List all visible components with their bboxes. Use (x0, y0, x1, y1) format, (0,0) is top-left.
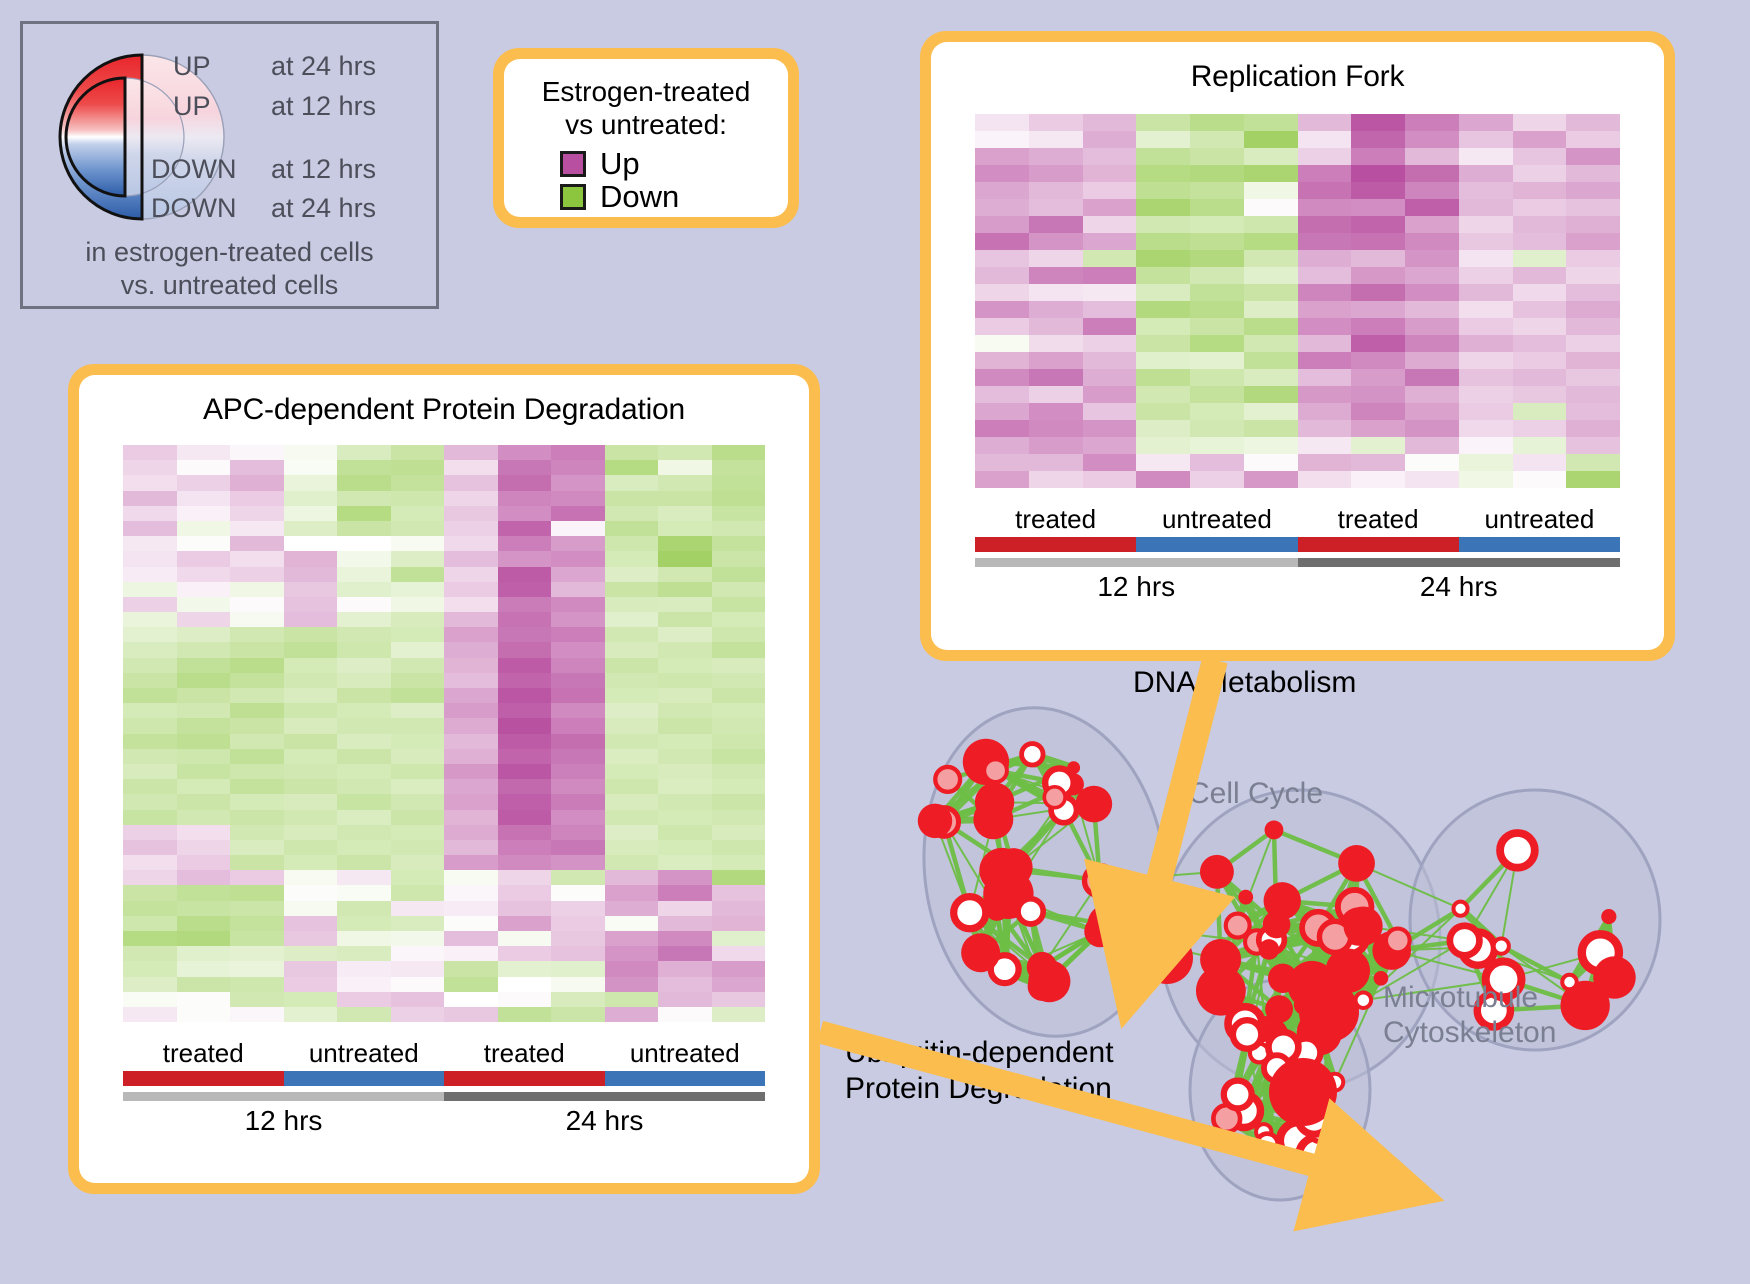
time-label-24: 24 hrs (444, 1105, 765, 1137)
heatmap-cell (177, 536, 231, 551)
time-bar-12 (123, 1092, 444, 1101)
heatmap-cell (1244, 267, 1298, 284)
heatmap-cell (1566, 454, 1620, 471)
heatmap-cell (605, 688, 659, 703)
group-labels-replication: treated untreated treated untreated (975, 504, 1620, 535)
cluster-label-ubiquitin-degradation: Ubiquitin-dependent Protein Degradation (845, 1035, 1114, 1107)
heatmap-cell (444, 1007, 498, 1022)
heatmap-cell (391, 1007, 445, 1022)
heatmap-cell (284, 916, 338, 931)
heatmap-cell (1405, 335, 1459, 352)
heatmap-cell (1513, 199, 1567, 216)
heatmap-cell (1459, 233, 1513, 250)
heatmap-cell (391, 885, 445, 900)
heatmap-cell (712, 612, 766, 627)
heatmap-cell (1405, 420, 1459, 437)
heatmap-cell (1298, 420, 1352, 437)
heatmap-cell (1351, 131, 1405, 148)
heatmap-cell (1029, 199, 1083, 216)
heatmap-cell (391, 764, 445, 779)
heatmap-cell (230, 855, 284, 870)
heatmap-cell (1190, 233, 1244, 250)
heatmap-cell (177, 825, 231, 840)
heatmap-cell (1513, 216, 1567, 233)
heatmap-cell (1244, 403, 1298, 420)
heatmap-cell (1029, 233, 1083, 250)
heatmap-cell (337, 642, 391, 657)
heatmap-cell (605, 885, 659, 900)
heatmap-cell (123, 885, 177, 900)
heatmap-cell (284, 688, 338, 703)
heatmap-cell (1136, 471, 1190, 488)
heatmap-cell (498, 521, 552, 536)
heatmap-cell (123, 794, 177, 809)
network-node (1087, 904, 1129, 946)
heatmap-cell (337, 491, 391, 506)
heatmap-cell (658, 916, 712, 931)
heatmap-replication-fork (975, 114, 1620, 488)
heatmap-cell (1298, 250, 1352, 267)
key-footer-line1: in estrogen-treated cells (23, 236, 436, 269)
heatmap-cell (1459, 352, 1513, 369)
heatmap-cell (284, 946, 338, 961)
bar-treated-24 (444, 1071, 605, 1086)
heatmap-cell (177, 612, 231, 627)
heatmap-cell (975, 284, 1029, 301)
time-labels-replication: 12 hrs 24 hrs (975, 571, 1620, 603)
heatmap-cell (1513, 369, 1567, 386)
heatmap-cell (230, 475, 284, 490)
heatmap-cell (123, 810, 177, 825)
heatmap-cell (123, 961, 177, 976)
heatmap-cell (391, 870, 445, 885)
heatmap-cell (177, 992, 231, 1007)
heatmap-cell (551, 460, 605, 475)
heatmap-cell (658, 840, 712, 855)
heatmap-cell (498, 870, 552, 885)
heatmap-cell (1244, 131, 1298, 148)
heatmap-cell (1351, 284, 1405, 301)
heatmap-cell (605, 627, 659, 642)
heatmap-cell (1566, 284, 1620, 301)
heatmap-cell (284, 779, 338, 794)
heatmap-cell (498, 810, 552, 825)
bar-treated-12 (123, 1071, 284, 1086)
heatmap-cell (391, 445, 445, 460)
heatmap-cell (1083, 454, 1137, 471)
heatmap-cell (975, 437, 1029, 454)
heatmap-cell (284, 885, 338, 900)
heatmap-cell (712, 445, 766, 460)
heatmap-cell (658, 521, 712, 536)
heatmap-cell (1513, 318, 1567, 335)
heatmap-cell (177, 840, 231, 855)
heatmap-cell (177, 718, 231, 733)
heatmap-cell (1029, 267, 1083, 284)
heatmap-cell (177, 673, 231, 688)
heatmap-cell (1190, 199, 1244, 216)
network-node (1076, 786, 1113, 823)
heatmap-cell (975, 267, 1029, 284)
heatmap-cell (1405, 182, 1459, 199)
heatmap-cell (1136, 233, 1190, 250)
heatmap-cell (177, 658, 231, 673)
heatmap-cell (123, 673, 177, 688)
heatmap-cell (444, 506, 498, 521)
annotation-strip-apc: treated untreated treated untreated (123, 1038, 765, 1137)
heatmap-cell (444, 475, 498, 490)
heatmap-cell (551, 627, 605, 642)
heatmap-cell (230, 901, 284, 916)
heatmap-cell (1083, 335, 1137, 352)
heatmap-cell (658, 460, 712, 475)
heatmap-cell (444, 992, 498, 1007)
group-label-2: treated (444, 1038, 605, 1069)
time-bar-24 (444, 1092, 765, 1101)
network-node-pale (1386, 929, 1410, 953)
heatmap-cell (498, 794, 552, 809)
heatmap-cell (712, 506, 766, 521)
heatmap-cell (975, 165, 1029, 182)
heatmap-cell (391, 916, 445, 931)
heatmap-cell (123, 992, 177, 1007)
heatmap-cell (284, 794, 338, 809)
heatmap-cell (284, 460, 338, 475)
heatmap-cell (1029, 165, 1083, 182)
heatmap-cell (123, 931, 177, 946)
heatmap-cell (177, 688, 231, 703)
heatmap-cell (605, 506, 659, 521)
heatmap-cell (337, 688, 391, 703)
heatmap-cell (1298, 318, 1352, 335)
heatmap-cell (1029, 114, 1083, 131)
heatmap-cell (658, 475, 712, 490)
network-node (994, 848, 1032, 886)
ubiq-line2: Protein Degradation (845, 1071, 1114, 1107)
up-color-swatch (560, 151, 586, 177)
heatmap-cell (337, 460, 391, 475)
network-node (1067, 761, 1080, 774)
heatmap-cell (1513, 165, 1567, 182)
heatmap-cell (1083, 420, 1137, 437)
heatmap-cell (551, 506, 605, 521)
heatmap-cell (284, 658, 338, 673)
heatmap-cell (658, 612, 712, 627)
time-labels-apc: 12 hrs 24 hrs (123, 1105, 765, 1137)
heatmap-cell (1244, 250, 1298, 267)
heatmap-cell (498, 916, 552, 931)
heatmap-cell (1136, 267, 1190, 284)
heatmap-cell (1029, 182, 1083, 199)
heatmap-cell (498, 627, 552, 642)
heatmap-cell (551, 642, 605, 657)
heatmap-cell (1136, 454, 1190, 471)
heatmap-cell (605, 901, 659, 916)
heatmap-cell (551, 658, 605, 673)
heatmap-cell (444, 961, 498, 976)
heatmap-cell (1351, 437, 1405, 454)
heatmap-cell (605, 870, 659, 885)
heatmap-cell (1351, 233, 1405, 250)
heatmap-cell (1351, 318, 1405, 335)
heatmap-cell (284, 734, 338, 749)
heatmap-cell (658, 794, 712, 809)
heatmap-cell (551, 612, 605, 627)
heatmap-cell (337, 961, 391, 976)
down-color-swatch (560, 184, 586, 210)
key-row-2-label: DOWN (151, 154, 236, 185)
heatmap-cell (1029, 301, 1083, 318)
heatmap-cell (284, 931, 338, 946)
heatmap-cell (337, 734, 391, 749)
heatmap-cell (712, 688, 766, 703)
heatmap-cell (551, 718, 605, 733)
heatmap-cell (177, 460, 231, 475)
heatmap-cell (1566, 267, 1620, 284)
heatmap-cell (1298, 182, 1352, 199)
network-node-ring (1022, 744, 1043, 765)
heatmap-cell (975, 454, 1029, 471)
heatmap-cell (230, 840, 284, 855)
heatmap-cell (551, 901, 605, 916)
key-row-0-time: at 24 hrs (271, 51, 376, 82)
heatmap-cell (1029, 437, 1083, 454)
heatmap-cell (230, 703, 284, 718)
heatmap-cell (391, 977, 445, 992)
network-node-ring (1500, 833, 1535, 868)
heatmap-cell (658, 810, 712, 825)
heatmap-cell (712, 567, 766, 582)
heatmap-cell (284, 901, 338, 916)
heatmap-cell (444, 567, 498, 582)
group-color-bars-apc (123, 1071, 765, 1086)
heatmap-cell (177, 491, 231, 506)
heatmap-cell (551, 916, 605, 931)
heatmap-cell (230, 597, 284, 612)
heatmap-cell (1029, 131, 1083, 148)
heatmap-cell (1351, 199, 1405, 216)
network-node-pale (1085, 866, 1115, 896)
heatmap-cell (177, 445, 231, 460)
heatmap-cell (444, 916, 498, 931)
heatmap-cell (177, 567, 231, 582)
heatmap-cell (284, 673, 338, 688)
heatmap-cell (658, 734, 712, 749)
heatmap-cell (337, 475, 391, 490)
heatmap-cell (444, 536, 498, 551)
key-footer: in estrogen-treated cells vs. untreated … (23, 236, 436, 302)
heatmap-cell (1190, 437, 1244, 454)
heatmap-cell (712, 916, 766, 931)
heatmap-cell (123, 688, 177, 703)
heatmap-cell (712, 885, 766, 900)
heatmap-cell (391, 718, 445, 733)
heatmap-cell (230, 551, 284, 566)
heatmap-cell (1029, 420, 1083, 437)
bar-untreated-12 (284, 1071, 445, 1086)
heatmap-cell (444, 749, 498, 764)
heatmap-cell (1244, 114, 1298, 131)
heatmap-cell (605, 992, 659, 1007)
heatmap-cell (658, 642, 712, 657)
heatmap-cell (230, 718, 284, 733)
heatmap-cell (177, 582, 231, 597)
heatmap-cell (1298, 267, 1352, 284)
heatmap-cell (1405, 318, 1459, 335)
heatmap-cell (1459, 182, 1513, 199)
heatmap-cell (1298, 403, 1352, 420)
heatmap-cell (605, 612, 659, 627)
heatmap-cell (1298, 454, 1352, 471)
heatmap-cell (123, 870, 177, 885)
heatmap-cell (1298, 199, 1352, 216)
heatmap-cell (551, 551, 605, 566)
network-node-ring (1562, 975, 1577, 990)
heatmap-cell (391, 703, 445, 718)
heatmap-cell (1405, 148, 1459, 165)
heatmap-cell (712, 931, 766, 946)
heatmap-cell (1351, 335, 1405, 352)
heatmap-cell (123, 825, 177, 840)
time-bar-24 (1298, 558, 1621, 567)
time-color-bars-apc (123, 1092, 765, 1101)
heatmap-cell (391, 961, 445, 976)
heatmap-cell (1405, 216, 1459, 233)
heatmap-cell (1136, 284, 1190, 301)
heatmap-cell (498, 885, 552, 900)
heatmap-cell (1566, 165, 1620, 182)
heatmap-cell (444, 764, 498, 779)
heatmap-cell (1136, 369, 1190, 386)
heatmap-cell (444, 703, 498, 718)
heatmap-cell (1513, 148, 1567, 165)
heatmap-cell (551, 855, 605, 870)
heatmap-cell (712, 825, 766, 840)
heatmap-cell (712, 794, 766, 809)
heatmap-cell (391, 931, 445, 946)
heatmap-cell (123, 718, 177, 733)
heatmap-cell (1405, 199, 1459, 216)
heatmap-cell (337, 445, 391, 460)
network-node (1344, 906, 1383, 945)
heatmap-cell (975, 318, 1029, 335)
heatmap-cell (498, 445, 552, 460)
heatmap-cell (975, 420, 1029, 437)
heatmap-cell (444, 794, 498, 809)
heatmap-cell (605, 658, 659, 673)
heatmap-cell (177, 551, 231, 566)
heatmap-cell (551, 749, 605, 764)
heatmap-cell (177, 901, 231, 916)
heatmap-cell (337, 916, 391, 931)
heatmap-cell (551, 794, 605, 809)
heatmap-cell (1244, 386, 1298, 403)
network-node-ring (1224, 1081, 1252, 1109)
heatmap-cell (123, 658, 177, 673)
network-node (1200, 855, 1234, 889)
heatmap-cell (444, 612, 498, 627)
heatmap-cell (605, 946, 659, 961)
heatmap-cell (712, 1007, 766, 1022)
heatmap-cell (658, 885, 712, 900)
heatmap-cell (1298, 386, 1352, 403)
bar-untreated-12 (1136, 537, 1297, 552)
heatmap-cell (230, 794, 284, 809)
heatmap-cell (230, 1007, 284, 1022)
heatmap-cell (658, 855, 712, 870)
heatmap-cell (1459, 335, 1513, 352)
heatmap-cell (123, 627, 177, 642)
heatmap-cell (337, 977, 391, 992)
heatmap-cell (391, 749, 445, 764)
heatmap-cell (1298, 335, 1352, 352)
heatmap-cell (1083, 318, 1137, 335)
network-node (1265, 821, 1284, 840)
heatmap-cell (551, 475, 605, 490)
heatmap-cell (177, 475, 231, 490)
heatmap-cell (284, 627, 338, 642)
heatmap-cell (605, 825, 659, 840)
heatmap-cell (337, 627, 391, 642)
heatmap-cell (444, 931, 498, 946)
network-node (1338, 845, 1375, 882)
heatmap-cell (1459, 318, 1513, 335)
heatmap-cell (1405, 114, 1459, 131)
heatmap-cell (337, 901, 391, 916)
heatmap-cell (605, 810, 659, 825)
heatmap-cell (391, 946, 445, 961)
heatmap-cell (712, 779, 766, 794)
heatmap-cell (230, 992, 284, 1007)
heatmap-cell (1459, 454, 1513, 471)
heatmap-cell (1513, 420, 1567, 437)
heatmap-cell (123, 567, 177, 582)
heatmap-cell (975, 233, 1029, 250)
heatmap-cell (1190, 284, 1244, 301)
heatmap-cell (498, 764, 552, 779)
heatmap-cell (1298, 437, 1352, 454)
heatmap-cell (605, 931, 659, 946)
heatmap-cell (658, 597, 712, 612)
heatmap-cell (177, 870, 231, 885)
heatmap-cell (551, 779, 605, 794)
heatmap-cell (1136, 437, 1190, 454)
heatmap-cell (230, 567, 284, 582)
heatmap-cell (230, 916, 284, 931)
updown-legend-panel: Estrogen-treated vs untreated: Up Down (493, 48, 799, 228)
cluster-label-dna-metabolism: DNA Metabolism (1133, 666, 1356, 700)
heatmap-cell (1298, 284, 1352, 301)
heatmap-cell (975, 199, 1029, 216)
heatmap-cell (1298, 148, 1352, 165)
heatmap-cell (712, 810, 766, 825)
heatmap-cell (444, 885, 498, 900)
heatmap-cell (337, 794, 391, 809)
heatmap-cell (177, 916, 231, 931)
heatmap-cell (1083, 471, 1137, 488)
heatmap-cell (1244, 471, 1298, 488)
heatmap-cell (1459, 114, 1513, 131)
heatmap-cell (1190, 335, 1244, 352)
heatmap-cell (177, 810, 231, 825)
heatmap-cell (975, 335, 1029, 352)
heatmap-cell (391, 627, 445, 642)
heatmap-cell (177, 1007, 231, 1022)
heatmap-cell (605, 977, 659, 992)
heatmap-cell (230, 870, 284, 885)
network-node-pale (1044, 787, 1065, 808)
heatmap-cell (605, 582, 659, 597)
